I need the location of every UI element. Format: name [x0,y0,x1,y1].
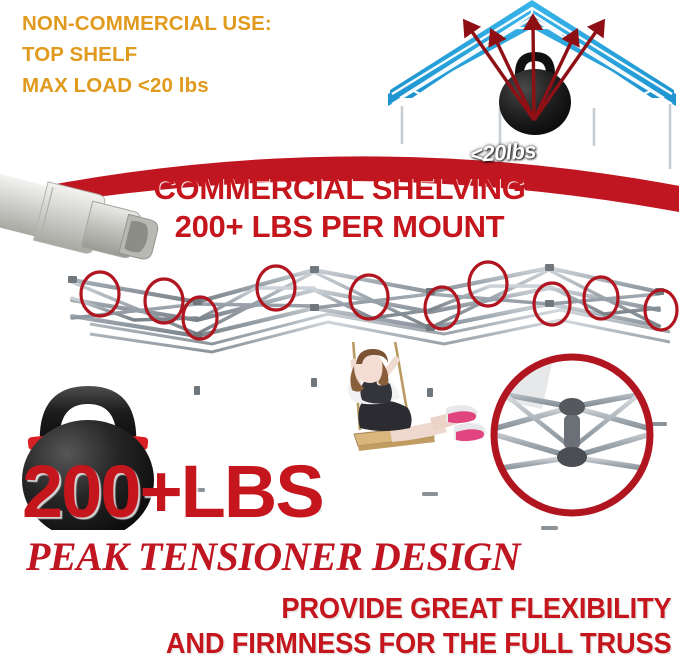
product-infographic-poster: <20lbs NON-COMMERCIAL USE: TOP SHELF MAX… [0,0,679,667]
headline-line-1: COMMERCIAL SHELVING [0,170,679,208]
red-joint-marker-icon [645,290,677,330]
red-joint-marker-icon [257,266,295,310]
warning-line-3: MAX LOAD <20 lbs [22,70,352,101]
tensioner-hub-detail-icon [482,345,662,525]
red-joint-marker-icon [183,297,217,339]
big-load-label: 200+LBS [22,455,323,529]
warning-line-1: NON-COMMERCIAL USE: [22,8,352,39]
red-joint-marker-icon [534,283,570,325]
headline-block: COMMERCIAL SHELVING 200+ LBS PER MOUNT [0,170,679,246]
tagline-block: PROVIDE GREAT FLEXIBILITY AND FIRMNESS F… [41,592,679,662]
headline-line-2: 200+ LBS PER MOUNT [0,208,679,246]
red-joint-marker-icon [584,277,618,319]
red-joint-marker-icon [425,287,459,329]
child-skirt-icon [358,400,411,431]
red-joint-marker-icon [469,262,507,306]
tagline-line-1: PROVIDE GREAT FLEXIBILITY [41,592,672,627]
canopy-illustration [382,0,679,194]
kettlebell-weight-caption: <20lbs [469,138,537,169]
peak-tensioner-callout [482,345,662,525]
tagline-line-2: AND FIRMNESS FOR THE FULL TRUSS [41,627,672,662]
peak-tensioner-title: PEAK TENSIONER DESIGN [26,535,520,579]
red-joint-marker-icon [145,279,183,323]
non-commercial-warning: NON-COMMERCIAL USE: TOP SHELF MAX LOAD <… [22,8,352,101]
warning-line-2: TOP SHELF [22,39,352,70]
red-joint-marker-icon [350,275,388,319]
child-on-swing-icon [318,342,503,487]
red-joint-marker-icon [81,272,119,316]
